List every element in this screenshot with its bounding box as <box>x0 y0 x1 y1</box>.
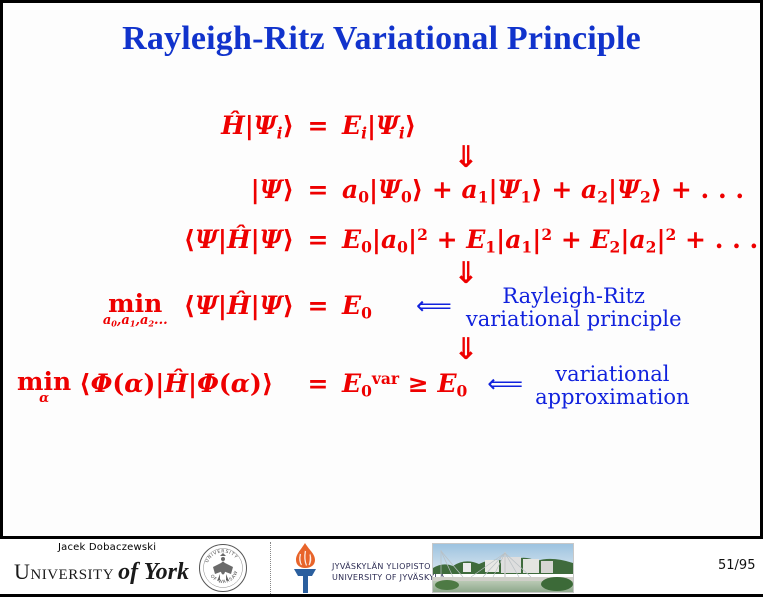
equation-relation-expectation: = <box>303 225 333 254</box>
implication-arrow-row-2: ⇓ <box>3 261 760 291</box>
photo-shrub <box>435 580 459 590</box>
implication-arrow-row-3: ⇓ <box>3 337 760 369</box>
equation-rhs-expectation: E0|a0|2 + E1|a1|2 + E2|a2|2 + . . . <box>333 225 760 256</box>
min-operator-coefficients: min a0,a1,a2... <box>103 291 168 327</box>
equation-lhs-expansion: |Ψ⟩ <box>3 175 303 204</box>
implies-down-icon: ⇓ <box>166 145 763 171</box>
min-operator-subscript: a0,a1,a2... <box>103 314 168 327</box>
implies-down-icon-2: ⇓ <box>166 261 763 287</box>
footer-divider <box>270 542 271 594</box>
author-name: Jacek Dobaczewski <box>58 542 156 553</box>
equation-lhs-expectation: ⟨Ψ|Ĥ|Ψ⟩ <box>3 225 303 254</box>
equation-rhs-variational: E0var ≥ E0 ⟸ variational approximation <box>333 369 760 408</box>
equation-relation-expansion: = <box>303 175 333 204</box>
equation-row-expansion: |Ψ⟩ = a0|Ψ0⟩ + a1|Ψ1⟩ + a2|Ψ2⟩ + . . . <box>3 175 760 211</box>
torch-bowl <box>294 569 316 576</box>
svg-text:UNIVERSITY: UNIVERSITY <box>204 548 239 563</box>
left-arrow-icon-1: ⟸ <box>416 293 452 318</box>
presentation-slide: Rayleigh-Ritz Variational Principle Ĥ|Ψi… <box>0 0 763 597</box>
slide-content-frame: Rayleigh-Ritz Variational Principle Ĥ|Ψi… <box>0 0 763 539</box>
equation-row-eigenvalue: Ĥ|Ψi⟩ = Ei|Ψi⟩ <box>3 111 760 145</box>
warsaw-seal-top-text: UNIVERSITY <box>204 548 239 563</box>
page-number: 51/95 <box>718 558 755 573</box>
min-operator-alpha: min α <box>17 369 71 405</box>
university-of-york-logo: Universityof York <box>14 559 189 586</box>
jyu-logo-line-1: JYVÄSKYLÄN YLIOPISTO <box>332 561 445 572</box>
equation-rhs-minimum: E0 ⟸ Rayleigh-Ritz variational principle <box>333 291 760 330</box>
equation-rhs-expansion: a0|Ψ0⟩ + a1|Ψ1⟩ + a2|Ψ2⟩ + . . . <box>333 175 760 206</box>
annotation-line-2: variational principle <box>466 307 682 331</box>
implies-down-icon-3: ⇓ <box>166 337 763 363</box>
equation-row-expectation: ⟨Ψ|Ĥ|Ψ⟩ = E0|a0|2 + E1|a1|2 + E2|a2|2 + … <box>3 225 760 261</box>
university-of-jyvaskyla-logo: JYVÄSKYLÄN YLIOPISTO UNIVERSITY OF JYVÄS… <box>286 541 436 595</box>
photo-building <box>463 563 471 572</box>
equation-relation-minimum: = <box>303 291 333 320</box>
equation-rhs-eigenvalue: Ei|Ψi⟩ <box>333 111 760 142</box>
equation-lhs-variational: min α ⟨Φ(α)|Ĥ|Φ(α)⟩ <box>3 369 303 405</box>
campus-photo <box>432 543 574 593</box>
equation-lhs-eigenvalue: Ĥ|Ψi⟩ <box>3 111 303 142</box>
photo-building <box>541 561 553 573</box>
annotation-rayleigh-ritz: Rayleigh-Ritz variational principle <box>466 285 682 330</box>
equation-relation-variational: = <box>303 369 333 398</box>
warsaw-eagle-emblem <box>213 553 233 581</box>
left-arrow-icon-2: ⟸ <box>487 371 523 396</box>
torch-icon <box>286 541 328 595</box>
torch-stem <box>303 576 308 593</box>
photo-building <box>523 559 539 573</box>
annotation-variational-approximation: variational approximation <box>535 363 689 408</box>
york-logo-university-word: University <box>14 559 114 584</box>
equation-lhs-minimum: min a0,a1,a2... ⟨Ψ|Ĥ|Ψ⟩ <box>3 291 303 327</box>
equation-row-variational: min α ⟨Φ(α)|Ĥ|Φ(α)⟩ = E0var ≥ E0 ⟸ varia… <box>3 369 760 415</box>
jyu-logo-line-2: UNIVERSITY OF JYVÄSKYLÄ <box>332 572 445 583</box>
equation-block: Ĥ|Ψi⟩ = Ei|Ψi⟩ ⇓ |Ψ⟩ = <box>3 111 760 415</box>
equation-relation-eigenvalue: = <box>303 111 333 140</box>
page-title: Rayleigh-Ritz Variational Principle <box>3 20 760 58</box>
photo-shrub <box>541 577 573 591</box>
jyu-logo-text: JYVÄSKYLÄN YLIOPISTO UNIVERSITY OF JYVÄS… <box>332 561 445 583</box>
annotation-line-2-b: approximation <box>535 385 689 409</box>
university-of-warsaw-seal: UNIVERSITY OF WARSAW <box>198 543 248 593</box>
implication-arrow-row-1: ⇓ <box>3 145 760 175</box>
york-logo-of-york-word: of York <box>118 559 189 585</box>
equation-row-minimum: min a0,a1,a2... ⟨Ψ|Ĥ|Ψ⟩ = E0 ⟸ Rayleigh-… <box>3 291 760 337</box>
